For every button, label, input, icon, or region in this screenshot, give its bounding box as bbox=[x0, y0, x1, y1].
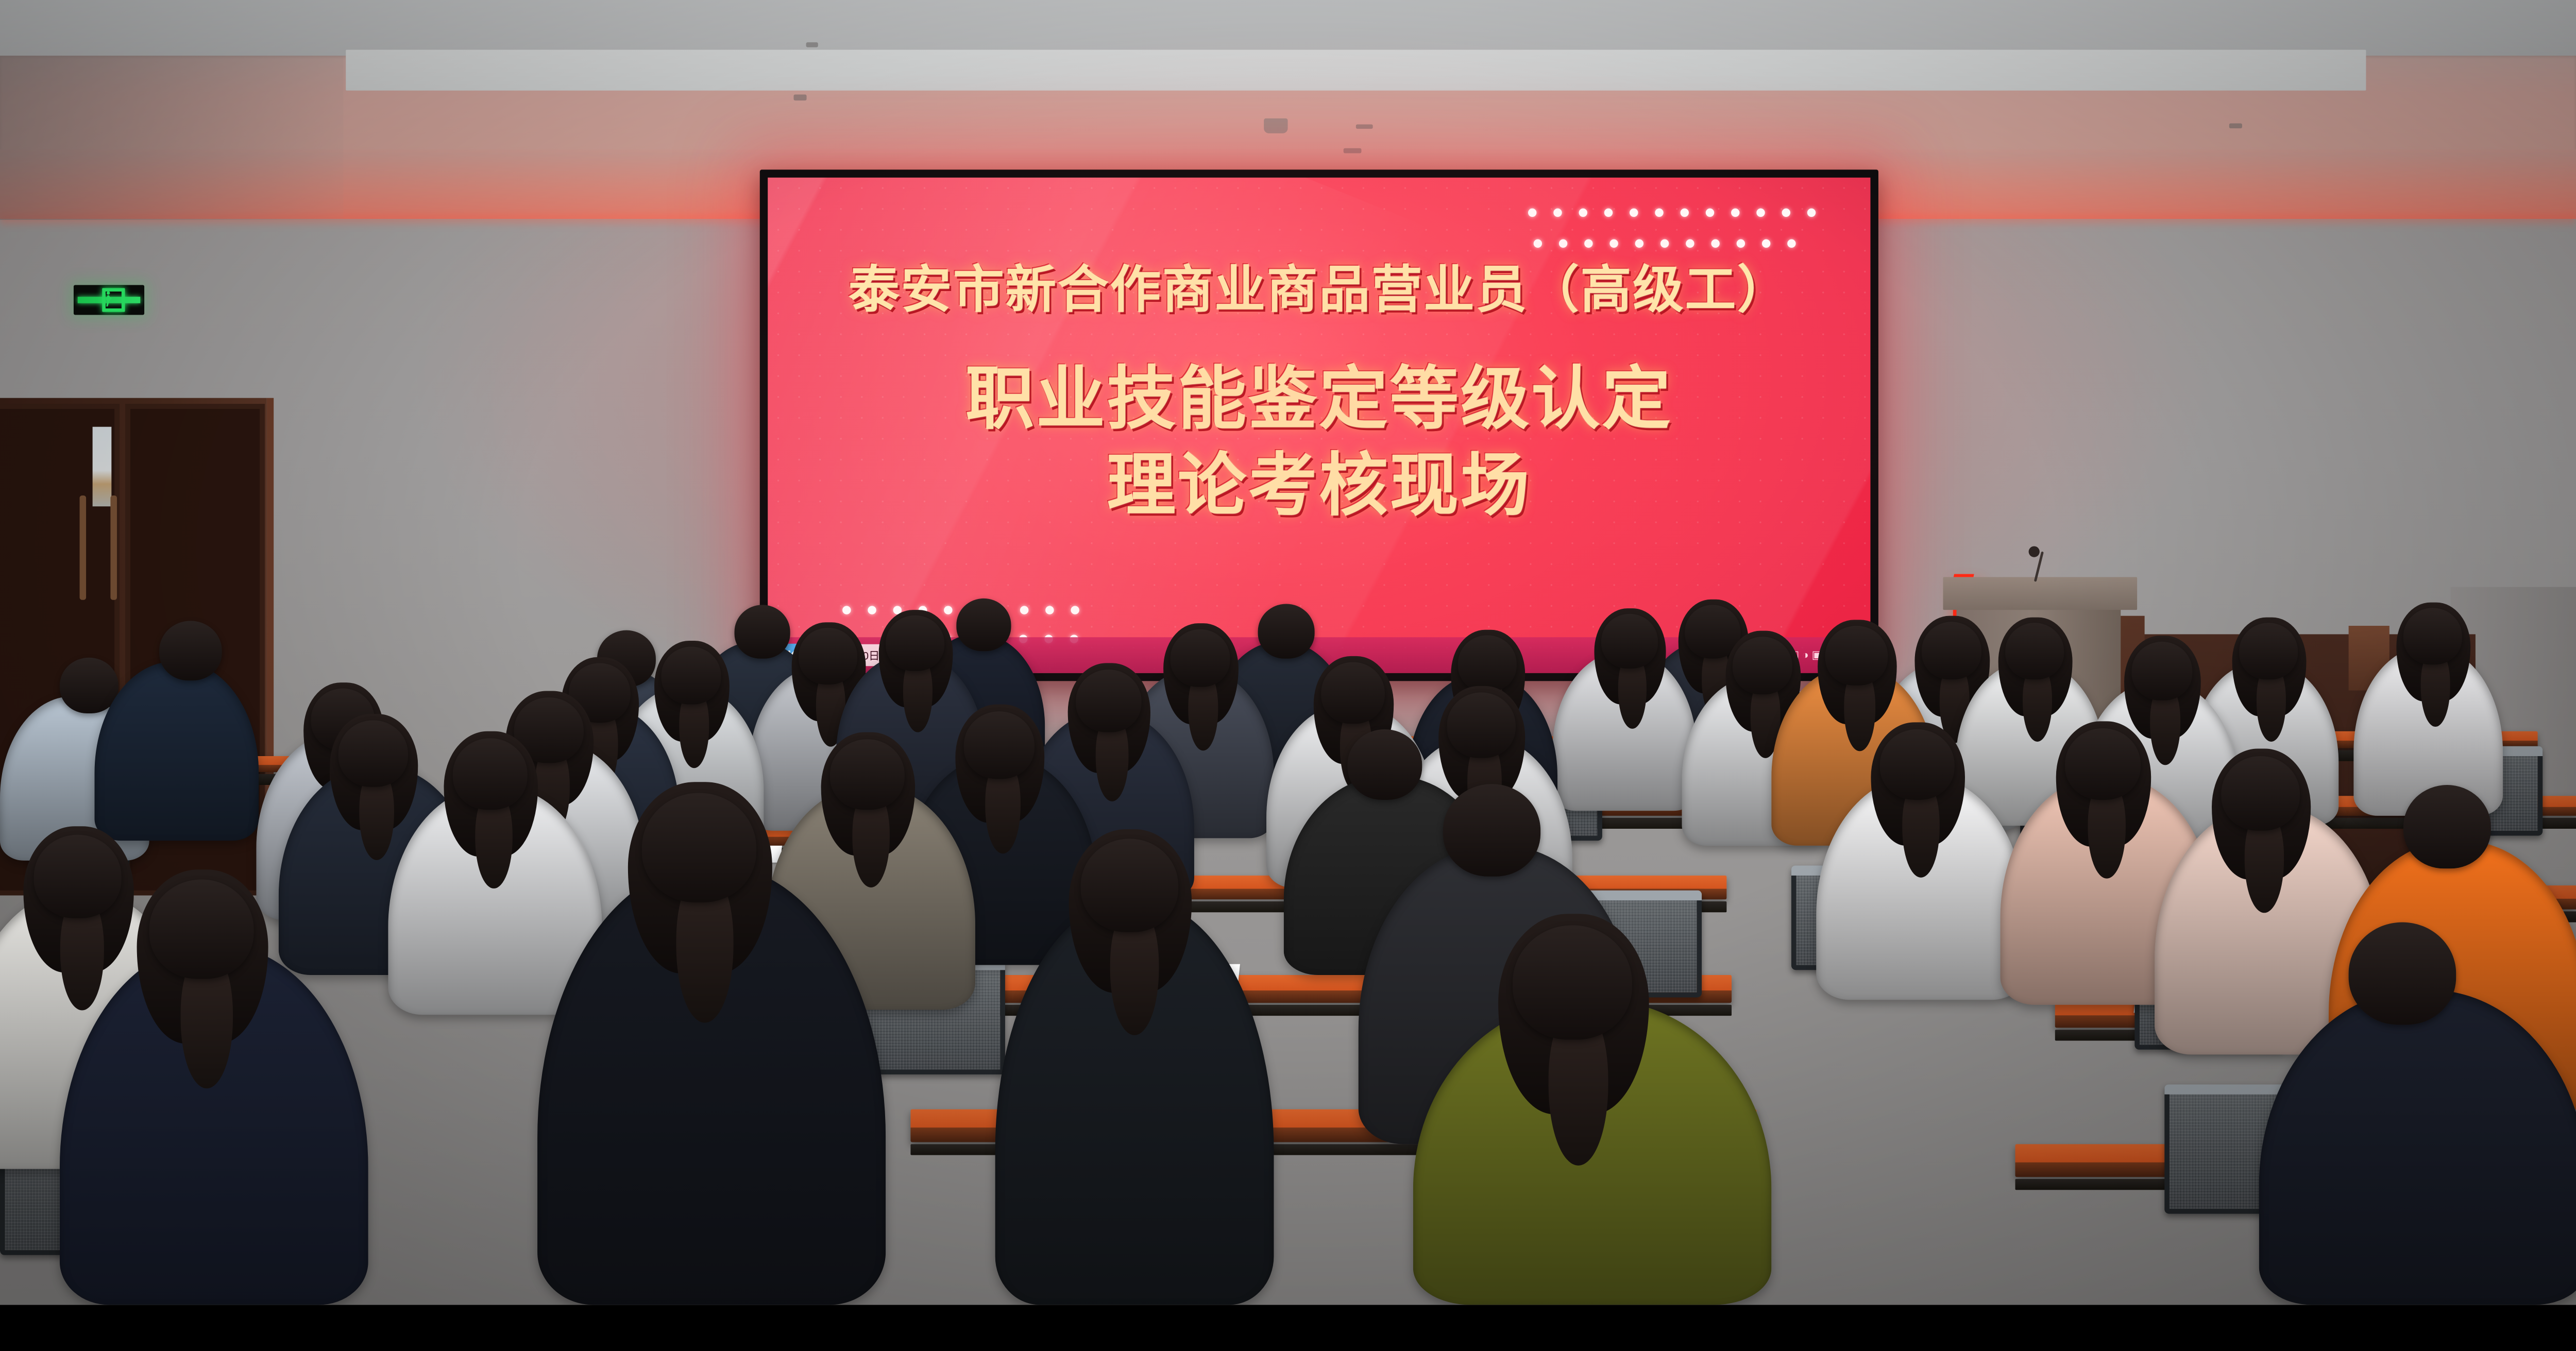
ceiling-sensor-icon bbox=[806, 42, 818, 47]
person-head bbox=[2239, 623, 2298, 679]
ceiling-sensor-icon bbox=[793, 95, 806, 101]
person-head bbox=[964, 711, 1035, 779]
decor-dot-row bbox=[1528, 209, 1816, 217]
smoke-detector-icon bbox=[1264, 118, 1287, 133]
person-torso bbox=[2259, 990, 2576, 1305]
person-head bbox=[2005, 623, 2064, 679]
audience-person bbox=[1816, 776, 2025, 1000]
person-head bbox=[1321, 662, 1385, 724]
emergency-exit-sign bbox=[74, 285, 144, 315]
person-head bbox=[149, 880, 254, 979]
person-head bbox=[1601, 614, 1658, 669]
person-head bbox=[453, 738, 528, 810]
door-open-gap bbox=[93, 427, 112, 507]
person-head bbox=[830, 739, 905, 810]
person-head bbox=[1081, 839, 1178, 932]
person-head bbox=[886, 615, 944, 671]
person-head bbox=[1347, 729, 1422, 800]
person-head bbox=[1447, 692, 1516, 758]
person-head bbox=[2403, 608, 2462, 664]
door-handle-icon[interactable] bbox=[80, 495, 87, 600]
person-head bbox=[1458, 635, 1517, 692]
decor-dot-row bbox=[1534, 240, 1796, 248]
person-head bbox=[2349, 922, 2456, 1025]
running-man-icon bbox=[103, 291, 113, 308]
screen-line-2: 职业技能鉴定等级认定 bbox=[768, 356, 1870, 442]
audience-person bbox=[995, 900, 1274, 1305]
person-head bbox=[956, 598, 1011, 651]
person-head bbox=[1443, 784, 1540, 877]
person-head bbox=[1171, 629, 1230, 687]
person-head bbox=[1258, 604, 1315, 658]
audience-person bbox=[537, 866, 886, 1305]
audience-person bbox=[1552, 652, 1697, 811]
person-head bbox=[1825, 626, 1888, 686]
microphone-head-icon bbox=[2029, 546, 2040, 557]
person-head bbox=[34, 835, 122, 918]
person-head bbox=[642, 793, 756, 902]
person-head bbox=[2132, 642, 2193, 700]
audience-person bbox=[95, 662, 259, 841]
person-head bbox=[159, 621, 222, 680]
audience-person bbox=[1413, 1000, 1771, 1305]
screen-title-block: 泰安市新合作商业商品营业员（高级工） 职业技能鉴定等级认定 理论考核现场 bbox=[768, 260, 1870, 529]
person-head bbox=[735, 605, 790, 658]
person-head bbox=[2065, 728, 2141, 800]
person-head bbox=[338, 720, 408, 786]
ceiling-sensor-icon bbox=[1356, 124, 1373, 129]
ceiling-shadow bbox=[0, 56, 343, 220]
person-head bbox=[662, 647, 721, 705]
person-head bbox=[1513, 925, 1632, 1039]
lectern-top bbox=[1943, 577, 2137, 610]
exam-hall-photo: 泰安市新合作商业商品营业员（高级工） 职业技能鉴定等级认定 理论考核现场 K 4… bbox=[0, 0, 2576, 1305]
person-head bbox=[2221, 756, 2300, 831]
ceiling-recess bbox=[346, 50, 2366, 91]
screen-line-3: 理论考核现场 bbox=[768, 442, 1870, 529]
ceiling-sensor-icon bbox=[1344, 148, 1362, 153]
person-head bbox=[1880, 729, 1955, 800]
screen-line-1: 泰安市新合作商业商品营业员（高级工） bbox=[768, 260, 1870, 320]
audience-person bbox=[60, 945, 368, 1305]
door-handle-icon[interactable] bbox=[110, 495, 117, 600]
person-torso bbox=[95, 662, 259, 841]
person-head bbox=[1076, 670, 1141, 732]
person-head bbox=[2403, 785, 2491, 868]
audience-person bbox=[2259, 990, 2576, 1305]
led-screen-surface: 泰安市新合作商业商品营业员（高级工） 职业技能鉴定等级认定 理论考核现场 K 4… bbox=[768, 178, 1870, 673]
ceiling-sensor-icon bbox=[2229, 124, 2242, 129]
